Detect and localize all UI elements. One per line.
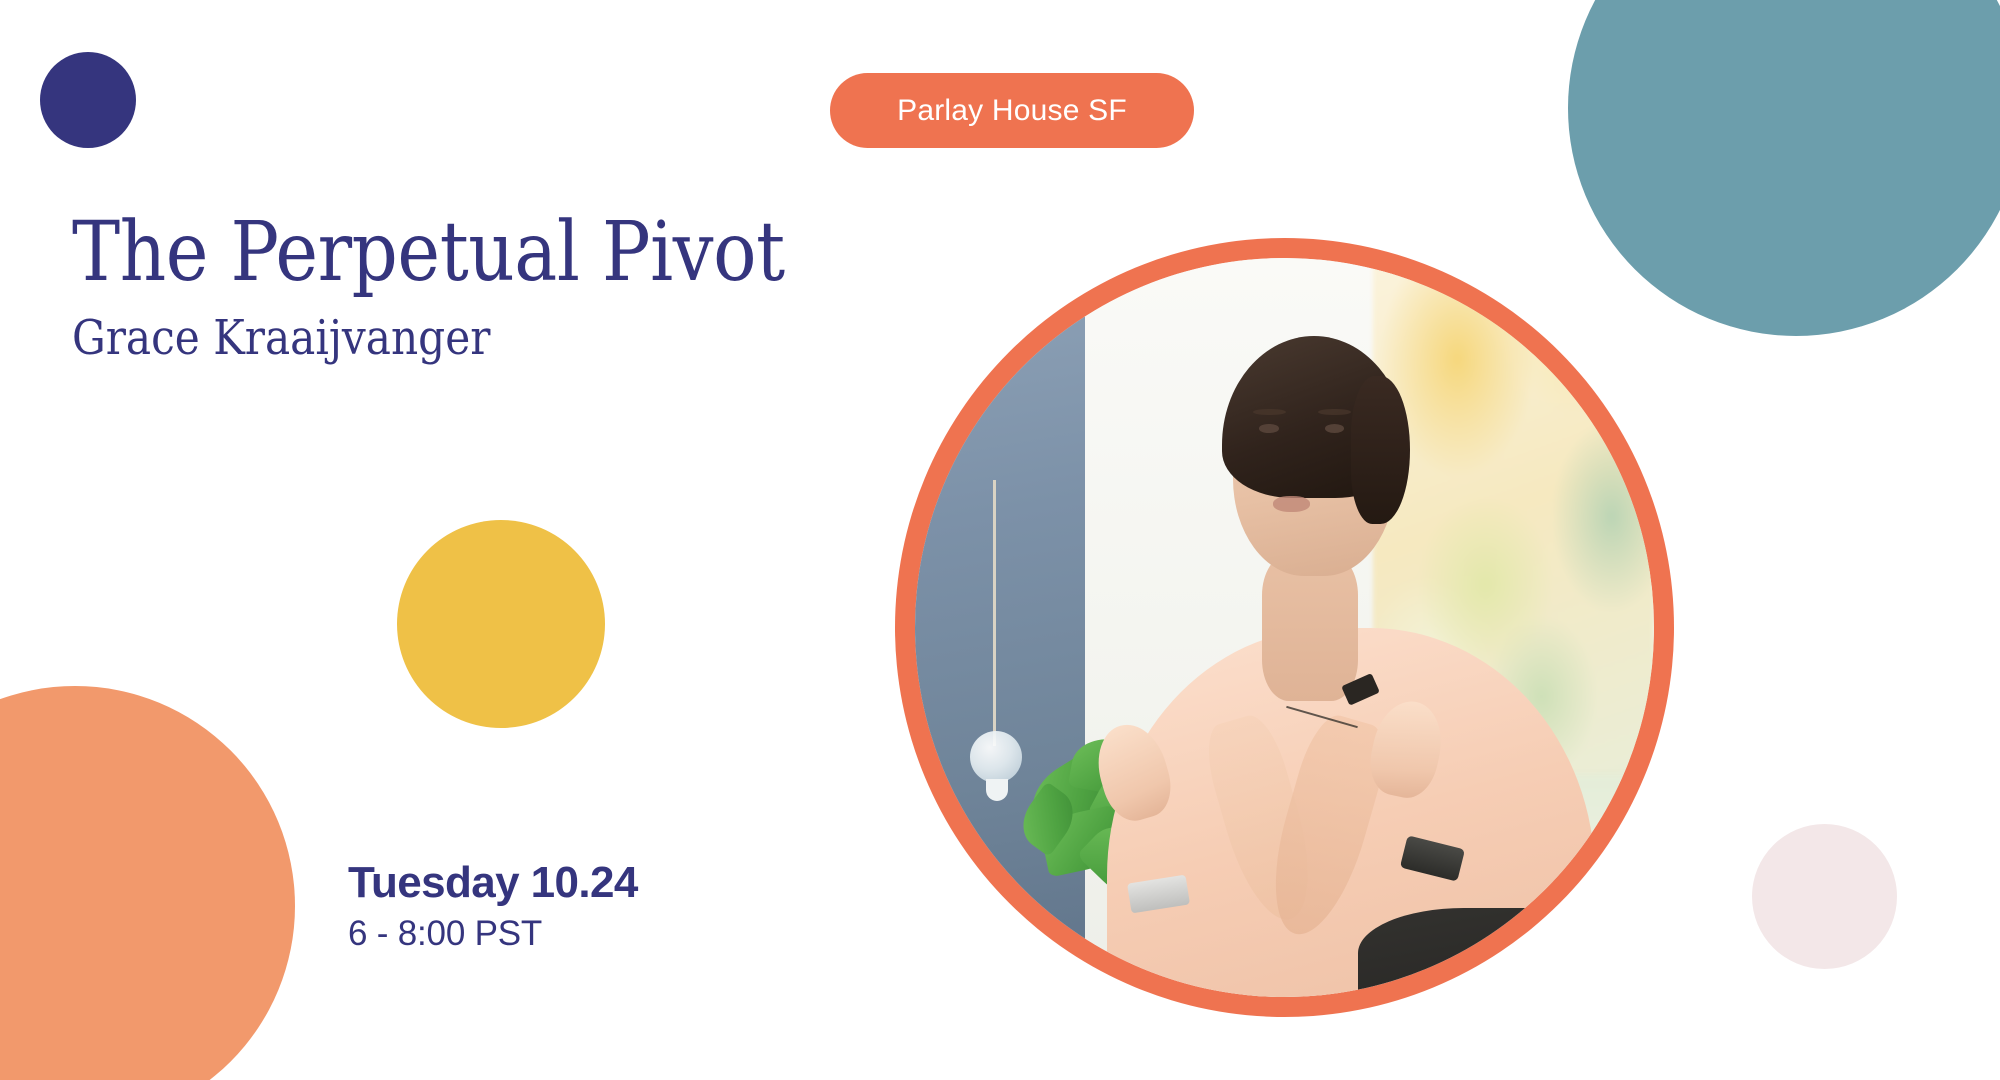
photo-pendant-tip (986, 779, 1008, 801)
headline-block: The Perpetual Pivot Grace Kraaijvanger (72, 212, 872, 362)
decor-circle-yellow-icon (397, 520, 605, 728)
decor-circle-navy-icon (40, 52, 136, 148)
photo-subject-pants (1358, 908, 1654, 997)
photo-pendant-cord (993, 480, 996, 746)
photo-subject-hair-side (1351, 376, 1410, 524)
photo-subject-eye-left (1259, 424, 1278, 433)
speaker-photo (915, 258, 1654, 997)
venue-badge-label: Parlay House SF (897, 96, 1127, 126)
event-date: Tuesday 10.24 (348, 858, 638, 907)
page-title: The Perpetual Pivot (72, 212, 776, 294)
photo-pendant-bulb-icon (970, 731, 1022, 783)
schedule-block: Tuesday 10.24 6 - 8:00 PST (348, 858, 638, 955)
speaker-photo-frame (895, 238, 1674, 1017)
speaker-name: Grace Kraaijvanger (72, 314, 776, 362)
event-time: 6 - 8:00 PST (348, 913, 638, 955)
photo-wall-left-top (915, 258, 1085, 317)
event-flyer: Parlay House SF The Perpetual Pivot Grac… (0, 0, 2000, 1080)
decor-circle-pink-icon (1752, 824, 1897, 969)
decor-circle-salmon-icon (0, 686, 295, 1080)
photo-subject-neck (1262, 554, 1358, 702)
venue-badge[interactable]: Parlay House SF (830, 73, 1194, 148)
photo-subject-mouth (1273, 496, 1310, 512)
